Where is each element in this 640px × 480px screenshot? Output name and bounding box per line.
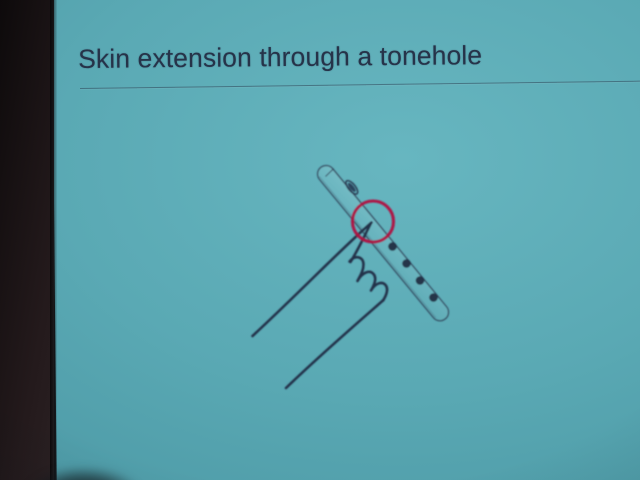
- tonehole: [402, 259, 411, 268]
- folded-knuckles: [350, 257, 388, 300]
- dark-wall-left: [0, 0, 54, 480]
- hand-drawing: [253, 223, 388, 389]
- tonehole: [429, 293, 438, 302]
- hand-lower-edge: [286, 300, 384, 388]
- projected-slide-photo: Skin extension through a tonehole: [0, 0, 640, 480]
- slide-figure: [0, 0, 640, 480]
- tonehole: [388, 242, 397, 251]
- tonehole: [416, 276, 425, 285]
- slide-content: Skin extension through a tonehole: [0, 0, 640, 480]
- screen-left-edge: [50, 0, 57, 480]
- index-finger-upper-edge: [253, 223, 372, 337]
- audience-head-silhouette: [28, 452, 160, 480]
- figure-canvas: [0, 0, 640, 480]
